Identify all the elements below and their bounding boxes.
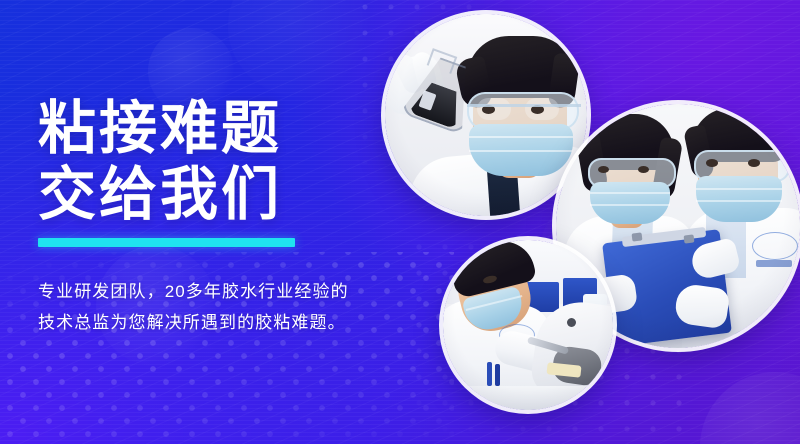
headline-line-2: 交给我们 <box>38 162 368 228</box>
promo-banner: 粘接难题 交给我们 专业研发团队，20多年胶水行业经验的 技术总监为您解决所遇到… <box>0 0 800 444</box>
photo-technician-machine <box>443 240 613 410</box>
bokeh-circle-decor <box>228 0 368 96</box>
subtitle-line-2: 技术总监为您解决所遇到的胶粘难题。 <box>38 307 378 338</box>
headline-block: 粘接难题 交给我们 <box>38 96 368 228</box>
headline-line-1: 粘接难题 <box>38 96 368 162</box>
bokeh-circle-decor <box>700 372 800 444</box>
subtitle-block: 专业研发团队，20多年胶水行业经验的 技术总监为您解决所遇到的胶粘难题。 <box>38 276 378 338</box>
subtitle-line-1: 专业研发团队，20多年胶水行业经验的 <box>38 276 378 307</box>
headline-underline-bar <box>38 238 295 247</box>
